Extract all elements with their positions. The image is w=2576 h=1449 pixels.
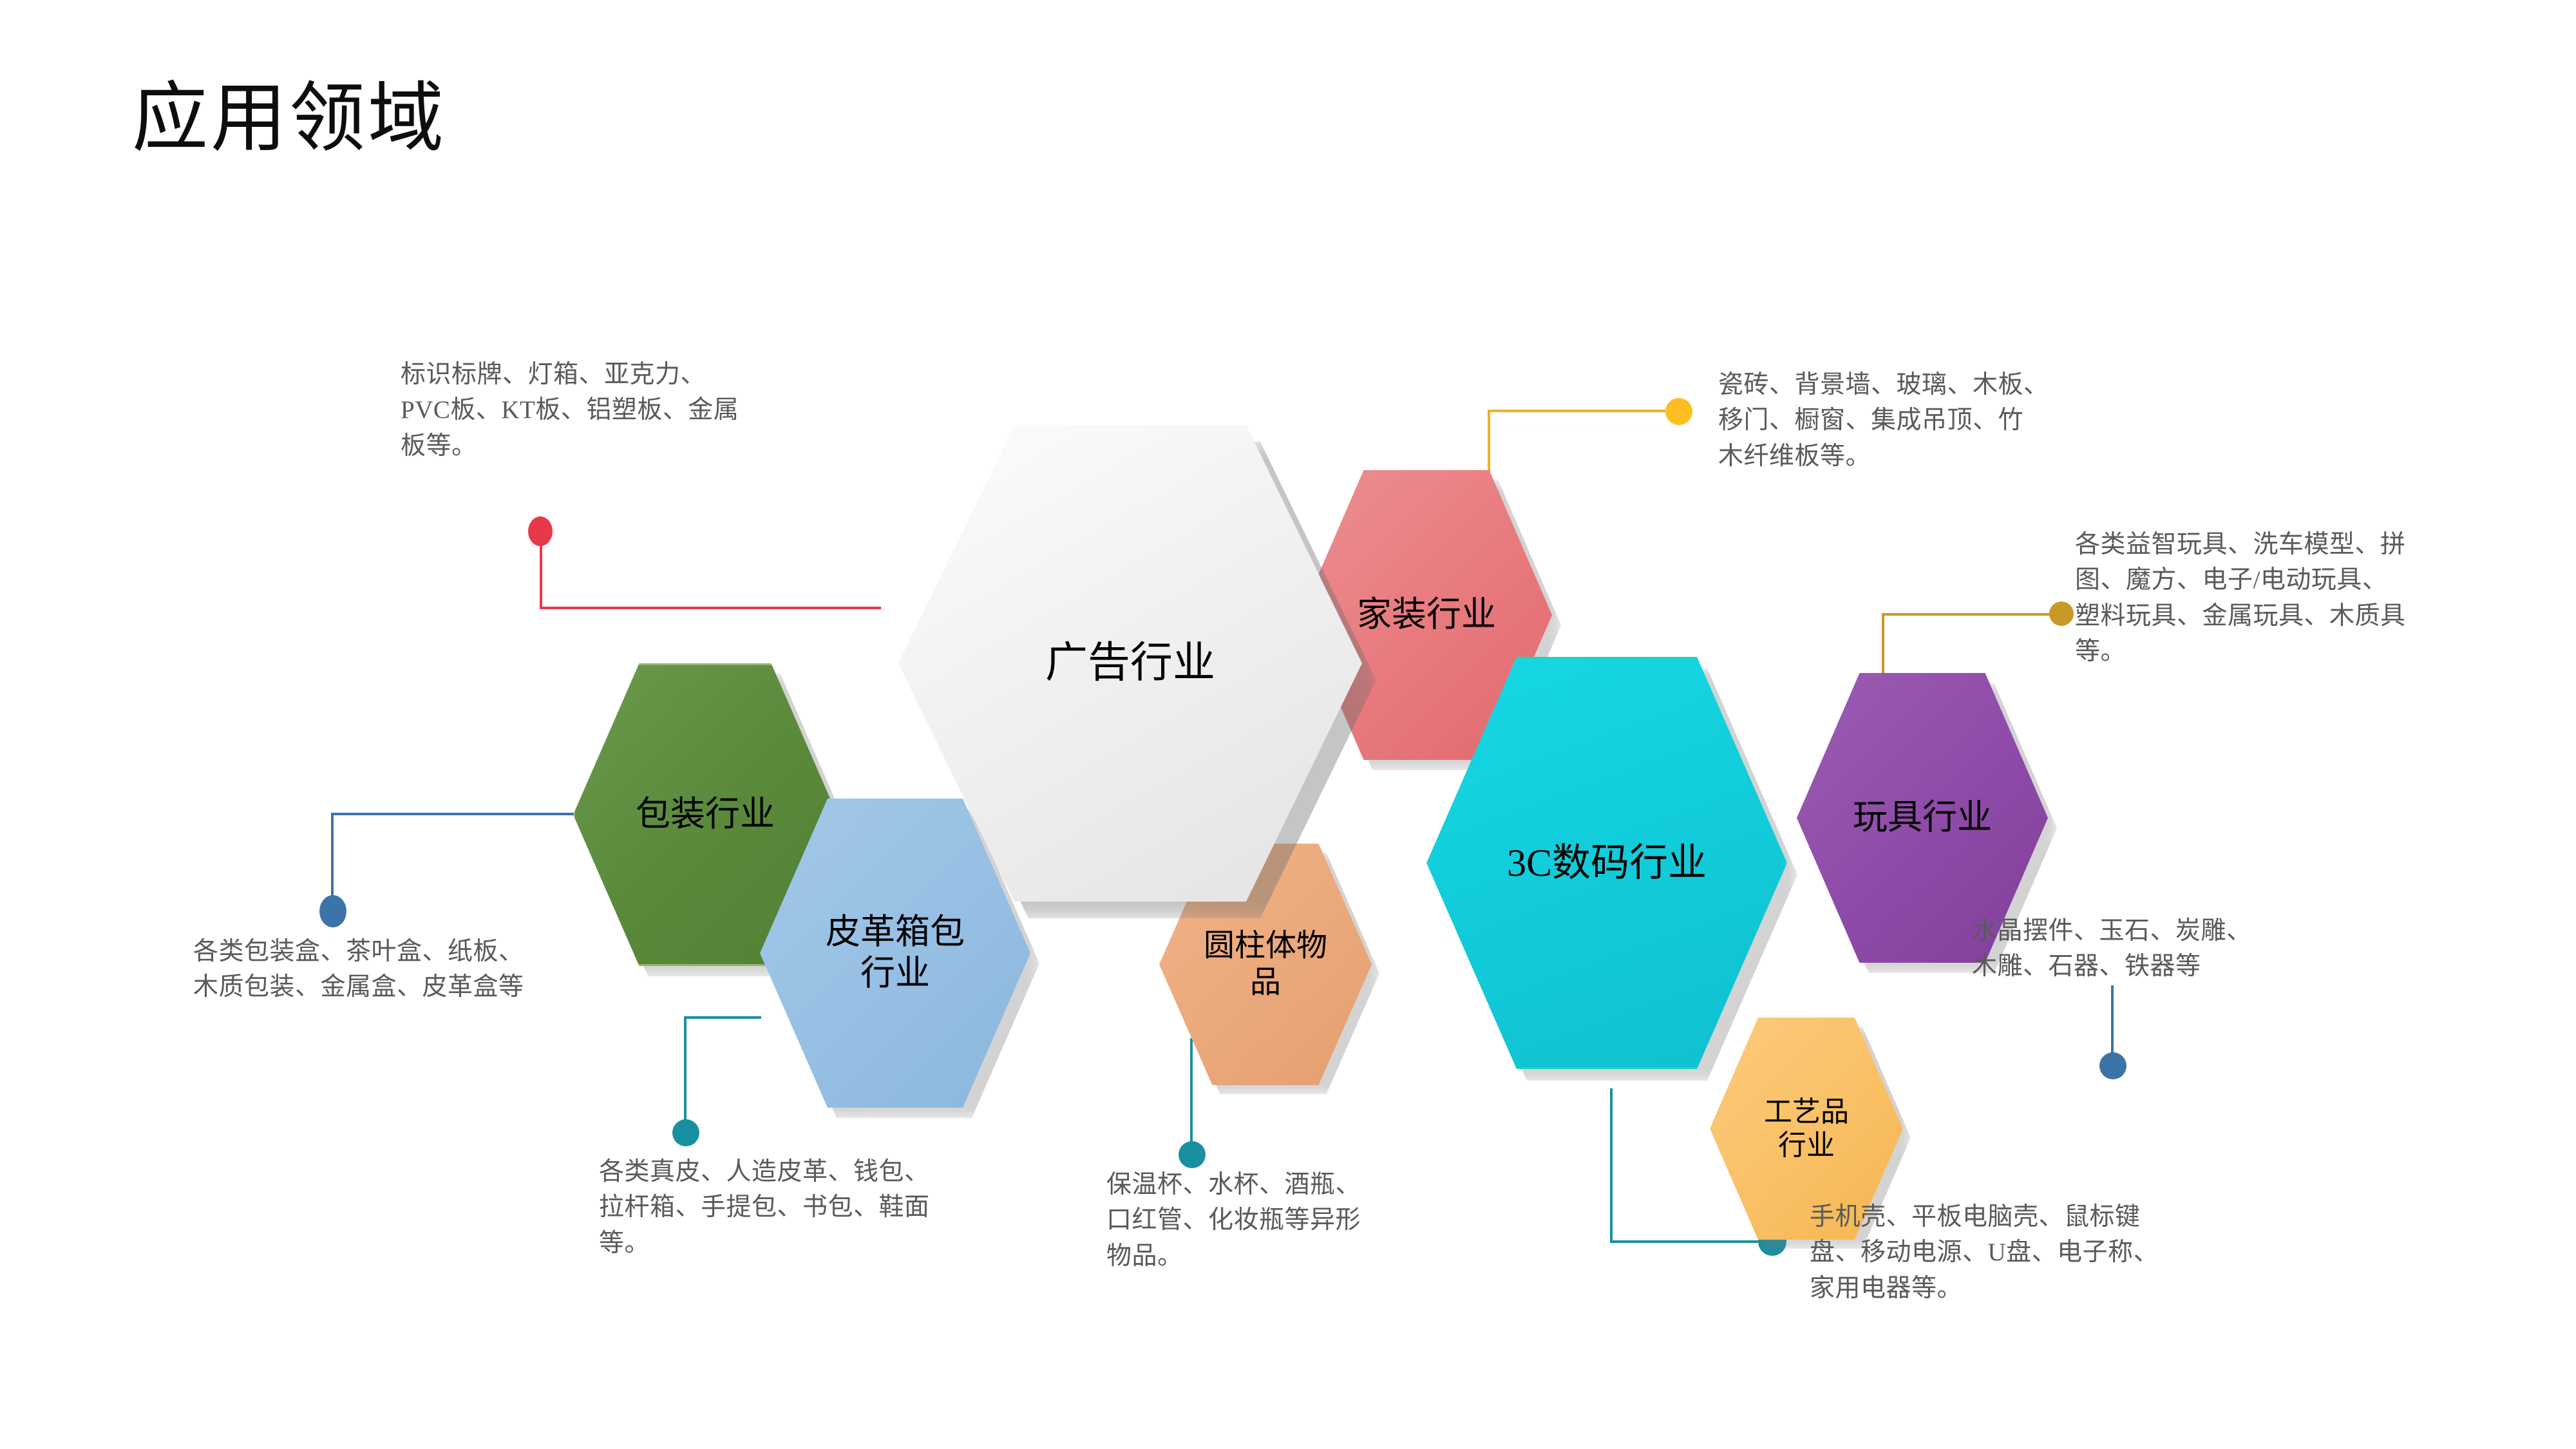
hexagon-crafts-label: 工艺品 行业 [1752,1095,1861,1162]
connector-cylindrical-dot [1179,1141,1206,1168]
infographic-canvas: 应用领域 家装行业 包装行业 [0,0,2576,1449]
connector-home-decoration-horizontal [1488,410,1681,412]
callout-packaging: 各类包装盒、茶叶盒、纸板、 木质包装、金属盒、皮革盒等 [193,934,663,1005]
connector-packaging-horizontal [331,813,589,815]
connector-leather-dot [672,1119,699,1146]
hexagon-3c-wrap: 3C数码行业 [1426,657,1787,1069]
connector-toys-dot [2049,601,2074,626]
connector-packaging-dot [319,895,346,927]
hexagon-home-decoration-label: 家装行业 [1342,594,1511,636]
connector-home-decoration-dot [1665,398,1692,425]
callout-3c-digital: 手机壳、平板电脑壳、鼠标键 盘、移动电源、U盘、电子称、 家用电器等。 [1810,1199,2273,1306]
connector-crafts-dot [2099,1052,2126,1079]
callout-cylindrical-objects: 保温杯、水杯、酒瓶、 口红管、化妆瓶等异形 物品。 [1106,1167,1493,1274]
callout-home-decoration: 瓷砖、背景墙、玻璃、木板、 移门、橱窗、集成吊顶、竹 木纤维板等。 [1718,367,2169,474]
connector-leather-vertical [684,1016,687,1133]
callout-leather-luggage: 各类真皮、人造皮革、钱包、 拉杆箱、手提包、书包、鞋面 等。 [599,1154,1050,1261]
hexagon-3c-digital-label: 3C数码行业 [1486,840,1728,886]
connector-3c-vertical [1610,1088,1613,1243]
connector-advertising-horizontal [540,607,881,609]
hexagon-leather-luggage-label: 皮革箱包 行业 [810,912,981,994]
hexagon-advertising-wrap: 广告行业 [898,425,1362,902]
callout-crafts: 水晶摆件、玉石、炭雕、 木雕、石器、铁器等 [1972,913,2384,985]
hexagon-cylindrical-objects-label: 圆柱体物 品 [1191,928,1340,1001]
connector-toys-horizontal [1882,613,2062,616]
connector-leather-horizontal [684,1016,761,1019]
connector-advertising-dot [528,516,553,546]
callout-advertising: 标识标牌、灯箱、亚克力、 PVC板、KT板、铝塑板、金属 板等。 [401,357,845,464]
hexagon-advertising-label: 广告行业 [1018,638,1243,688]
callout-toys: 各类益智玩具、洗车模型、拼 图、魔方、电子/电动玩具、 塑料玩具、金属玩具、木质… [2075,527,2519,670]
connector-3c-horizontal [1610,1240,1770,1243]
hexagon-toys-label: 玩具行业 [1838,797,2007,838]
page-title: 应用领域 [132,77,446,161]
